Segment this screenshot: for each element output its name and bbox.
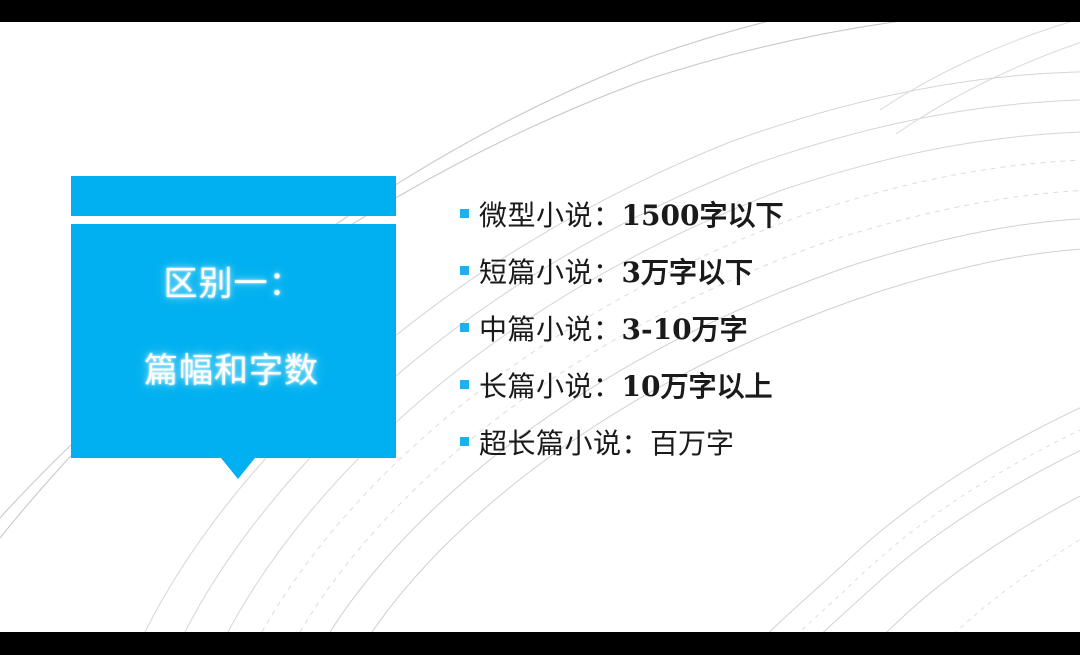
list-item-label: 微型小说： bbox=[479, 199, 622, 232]
list-item: 长篇小说：10万字以上 bbox=[460, 365, 1050, 422]
list-item-label: 中篇小说： bbox=[479, 313, 622, 346]
title-callout-card: 区别一： 篇幅和字数 bbox=[71, 176, 396, 458]
list-item: 中篇小说：3-10万字 bbox=[460, 308, 1050, 365]
slide-viewer: 区别一： 篇幅和字数 微型小说：1500字以下 短篇小说：3万字以下 中篇小说：… bbox=[0, 0, 1080, 655]
list-item-value: 1500字以下 bbox=[622, 199, 784, 232]
list-item-value: 3万字以下 bbox=[622, 256, 753, 289]
list-item-text: 短篇小说：3万字以下 bbox=[479, 251, 753, 291]
callout-accent-bar bbox=[71, 176, 396, 216]
square-bullet-icon bbox=[460, 437, 469, 446]
presentation-slide: 区别一： 篇幅和字数 微型小说：1500字以下 短篇小说：3万字以下 中篇小说：… bbox=[0, 22, 1080, 632]
list-item-label: 超长篇小说： bbox=[479, 427, 650, 460]
letterbox-bar-top bbox=[0, 0, 1080, 22]
list-item: 微型小说：1500字以下 bbox=[460, 194, 1050, 251]
callout-title-line-2: 篇幅和字数 bbox=[144, 350, 319, 394]
list-item-label: 短篇小说： bbox=[479, 256, 622, 289]
callout-body: 区别一： 篇幅和字数 bbox=[71, 224, 396, 458]
callout-title: 区别一： 篇幅和字数 bbox=[148, 219, 319, 463]
bullet-list: 微型小说：1500字以下 短篇小说：3万字以下 中篇小说：3-10万字 长篇小说… bbox=[460, 194, 1050, 479]
list-item: 短篇小说：3万字以下 bbox=[460, 251, 1050, 308]
list-item-value: 百万字 bbox=[650, 427, 734, 460]
list-item-text: 微型小说：1500字以下 bbox=[479, 194, 783, 234]
list-item-text: 长篇小说：10万字以上 bbox=[479, 365, 772, 405]
square-bullet-icon bbox=[460, 380, 469, 389]
callout-pointer-triangle bbox=[221, 458, 255, 479]
list-item-text: 超长篇小说：百万字 bbox=[479, 422, 734, 462]
list-item-label: 长篇小说： bbox=[479, 370, 622, 403]
list-item-value: 10万字以上 bbox=[622, 370, 773, 403]
list-item-text: 中篇小说：3-10万字 bbox=[479, 308, 748, 348]
callout-title-line-1: 区别一： bbox=[148, 263, 319, 307]
list-item-value: 3-10万字 bbox=[622, 313, 748, 346]
square-bullet-icon bbox=[460, 266, 469, 275]
square-bullet-icon bbox=[460, 209, 469, 218]
list-item: 超长篇小说：百万字 bbox=[460, 422, 1050, 479]
letterbox-bar-bottom bbox=[0, 632, 1080, 655]
square-bullet-icon bbox=[460, 323, 469, 332]
